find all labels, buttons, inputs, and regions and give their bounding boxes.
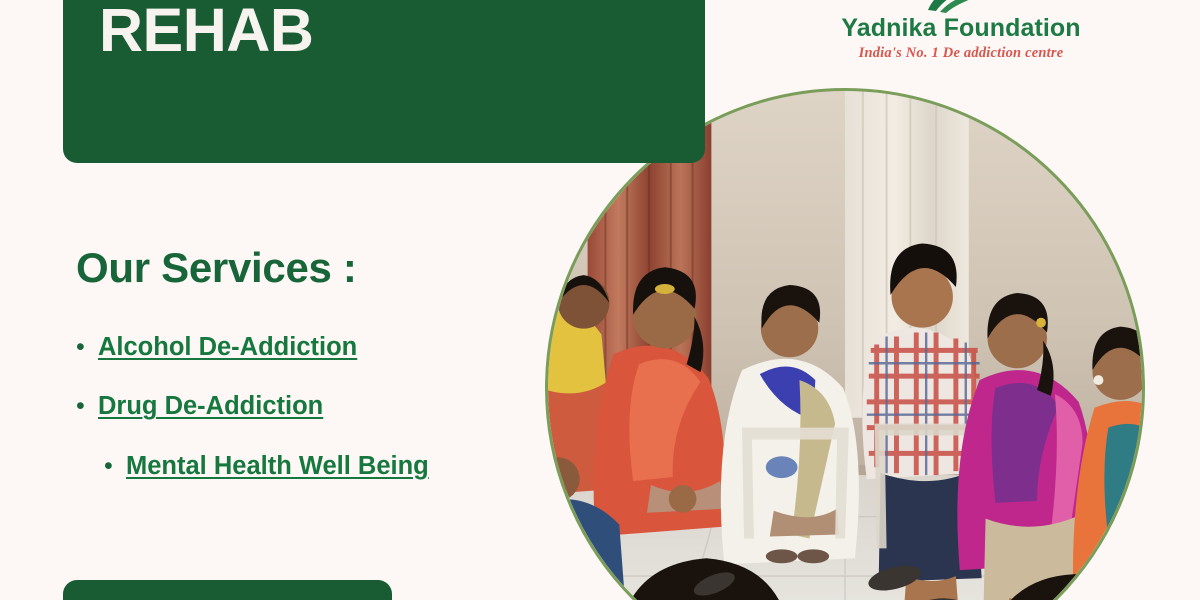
list-item[interactable]: • Mental Health Well Being [104, 452, 429, 481]
group-therapy-session-photo [545, 88, 1145, 600]
page-title: MENTAL HEALTH REHAB [99, 0, 677, 62]
services-list: • Alcohol De-Addiction • Drug De-Addicti… [76, 333, 429, 511]
cta-button[interactable] [63, 580, 392, 600]
poster-canvas: MENTAL HEALTH REHAB Yadnika Foundation I… [0, 0, 1200, 600]
logo-brand-name: Yadnika Foundation [836, 15, 1086, 43]
logo-tagline: India's No. 1 De addiction centre [836, 45, 1086, 62]
list-item[interactable]: • Drug De-Addiction [76, 392, 429, 421]
bullet-icon: • [104, 454, 126, 479]
brand-logo[interactable]: Yadnika Foundation India's No. 1 De addi… [836, 0, 1086, 62]
photo-clip [548, 91, 1142, 600]
headline-banner: MENTAL HEALTH REHAB [63, 0, 705, 163]
leaf-swoosh-icon [918, 0, 1004, 14]
bullet-icon: • [76, 335, 98, 360]
list-item[interactable]: • Alcohol De-Addiction [76, 333, 429, 362]
service-label-alcohol[interactable]: Alcohol De-Addiction [98, 333, 357, 362]
bullet-icon: • [76, 394, 98, 419]
service-label-mental-health[interactable]: Mental Health Well Being [126, 452, 429, 481]
services-heading: Our Services : [76, 245, 357, 291]
service-label-drug[interactable]: Drug De-Addiction [98, 392, 323, 421]
